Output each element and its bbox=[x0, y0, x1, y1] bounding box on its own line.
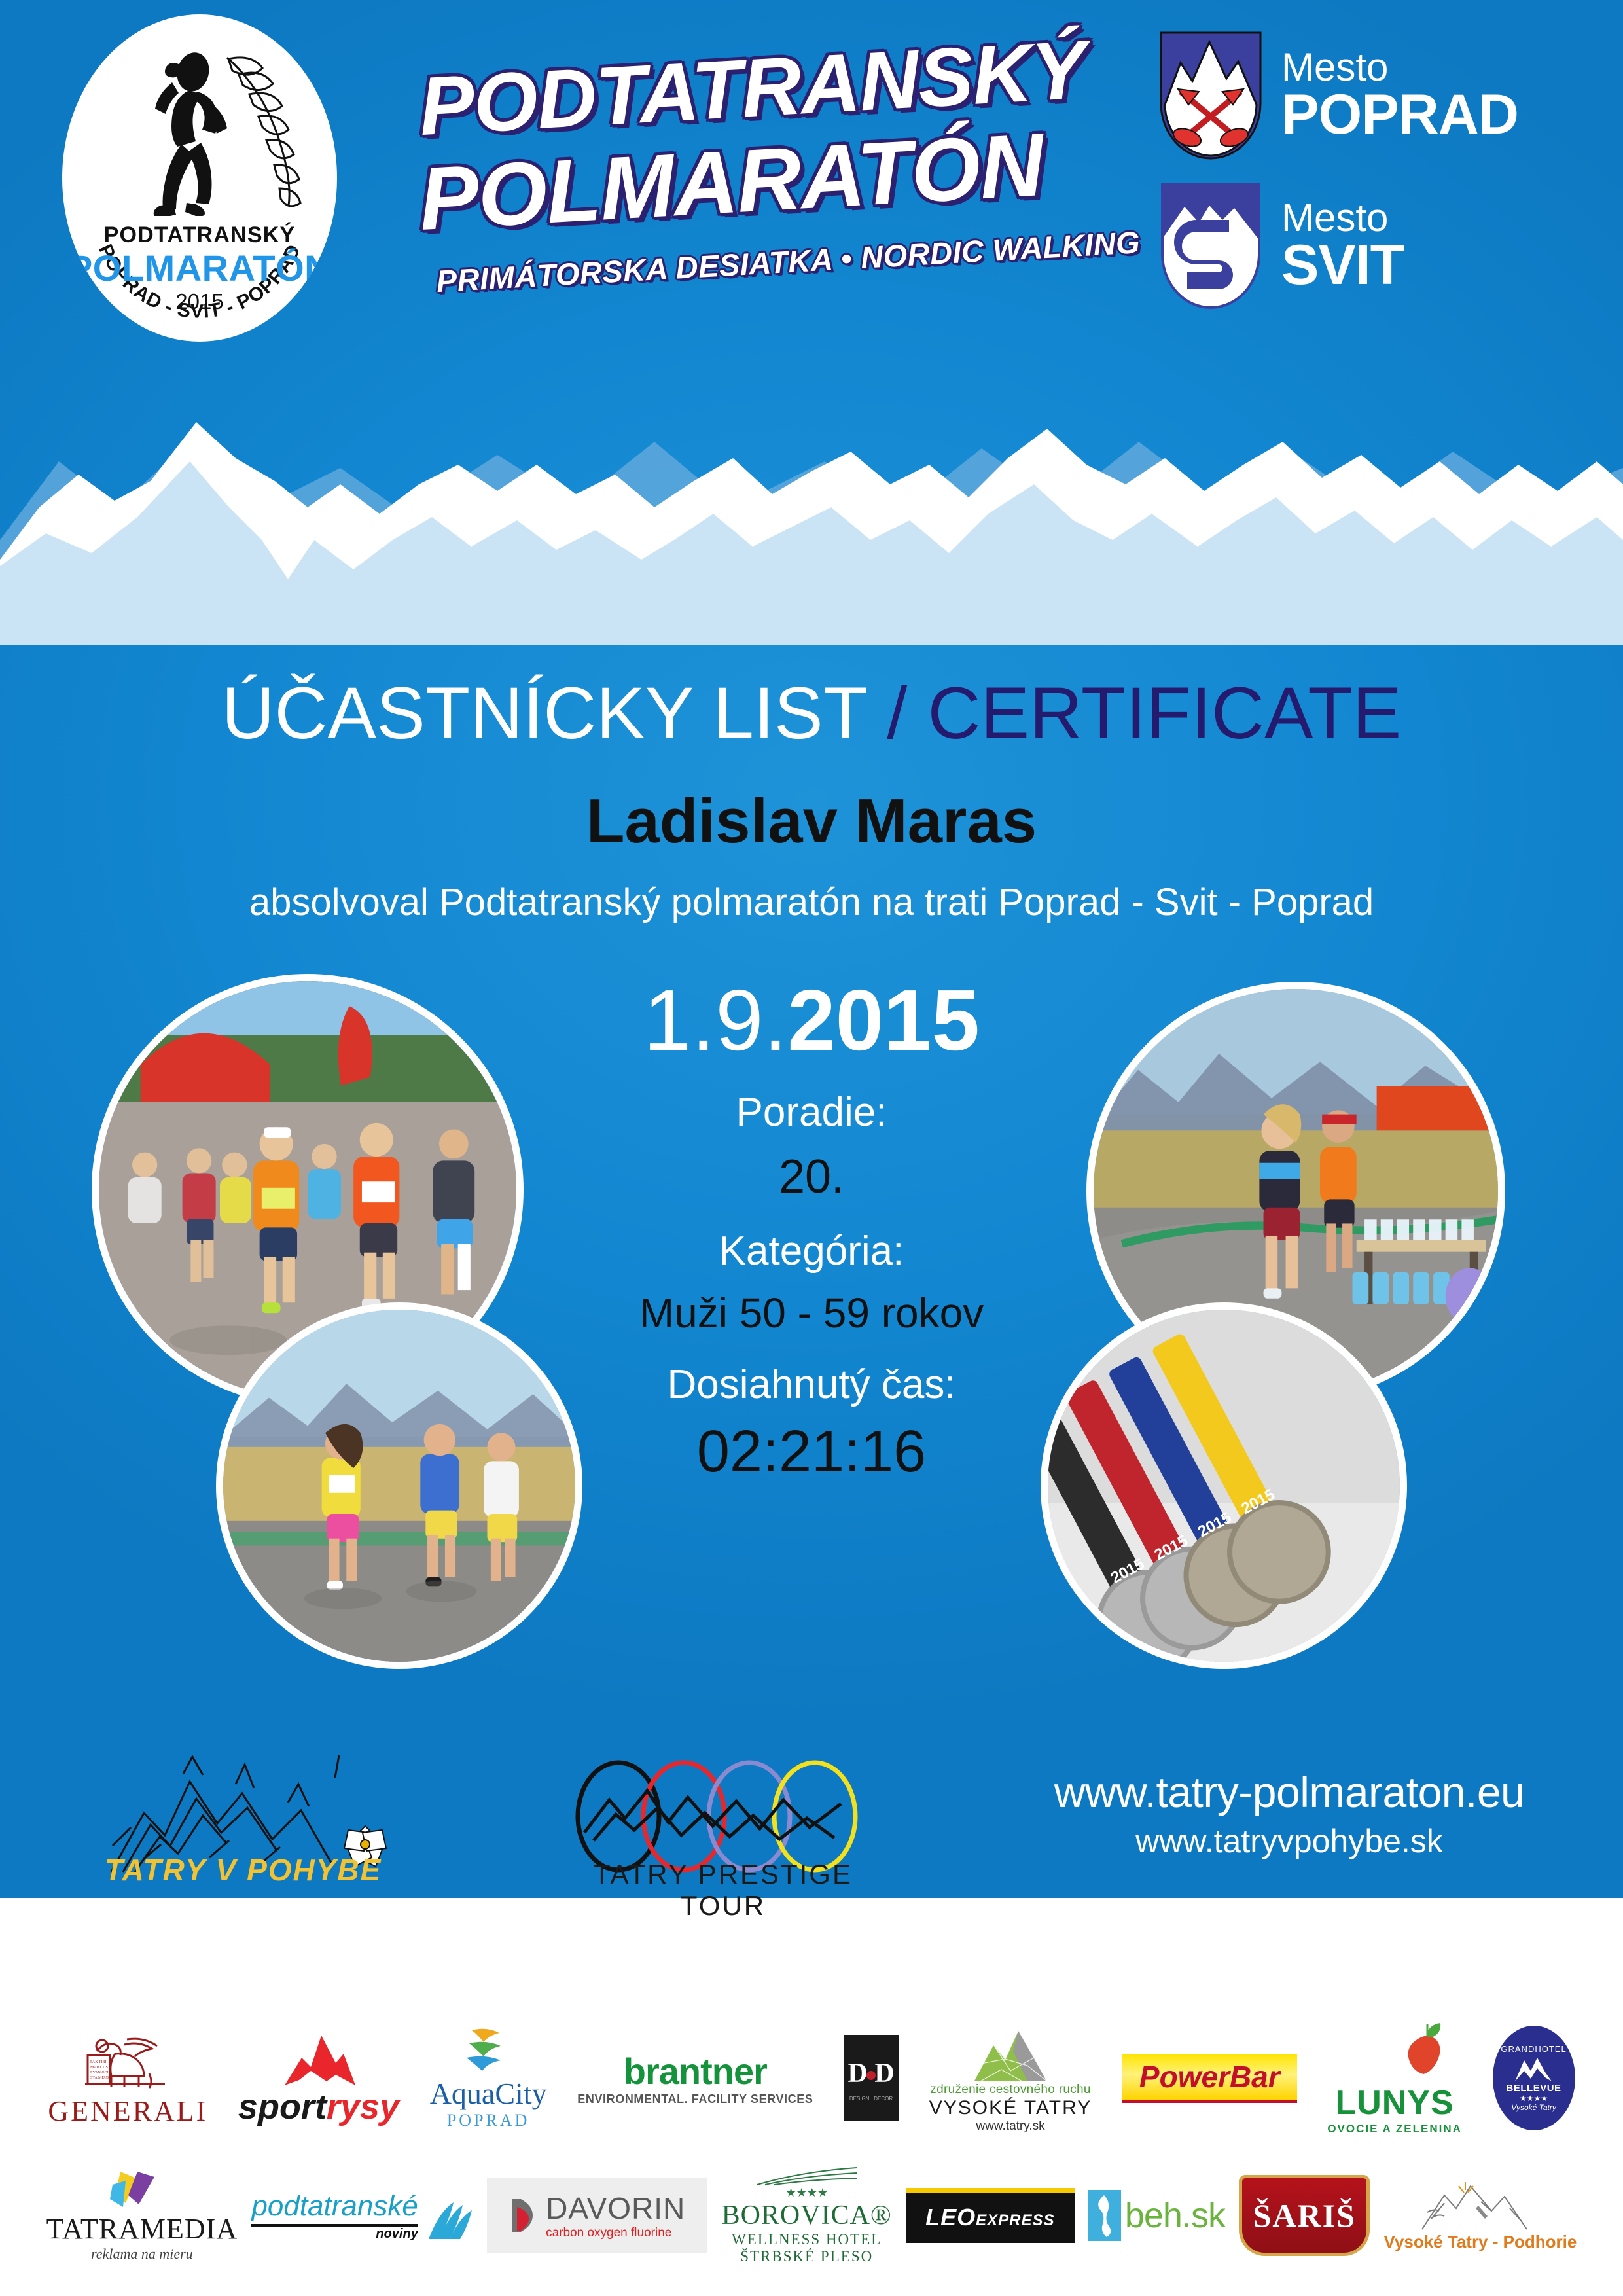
sponsor-davorin: DAVORIN carbon oxygen fluorine bbox=[487, 2178, 707, 2253]
participant-name: Ladislav Maras bbox=[0, 785, 1623, 857]
event-title-block: PODTATRANSKÝ POLMARATÓN PRIMÁTORSKA DESI… bbox=[419, 16, 1126, 343]
certificate-subtitle: absolvoval Podtatranský polmaratón na tr… bbox=[0, 880, 1623, 924]
city-name: SVIT bbox=[1281, 238, 1404, 293]
sportrysy-label-a: sport bbox=[238, 2087, 327, 2126]
lunys-label: LUNYS bbox=[1335, 2083, 1454, 2123]
certificate-title-sk: ÚČASTNÍCKY LIST bbox=[222, 672, 887, 754]
borovica-sublabel-1: WELLNESS HOTEL bbox=[732, 2231, 882, 2248]
grandhotel-top-label: GRANDHOTEL bbox=[1501, 2044, 1566, 2054]
sponsor-saris: ŠARIŠ bbox=[1239, 2175, 1370, 2256]
badge-year: 2015 bbox=[62, 289, 337, 314]
city-prefix: Mesto bbox=[1281, 48, 1518, 87]
leo-express-label: LEOEXPRESS bbox=[925, 2204, 1054, 2231]
svit-coat-of-arms-icon bbox=[1158, 182, 1263, 310]
vysoke-tatry-sublabel-1: združenie cestovného ruchu bbox=[930, 2083, 1090, 2097]
powerbar-badge: PowerBar bbox=[1122, 2054, 1297, 2103]
race-date: 1.9.2015 bbox=[550, 975, 1073, 1066]
sponsor-row-1: PAX TIBIMAR CUS EVAN GELISTA MEUS GENERA… bbox=[0, 2013, 1623, 2144]
sponsor-row-2: TATRAMEDIA reklama na mieru podtatranské… bbox=[0, 2160, 1623, 2271]
behsk-label: beh.sk bbox=[1125, 2195, 1225, 2236]
borovica-label: BOROVICA® bbox=[722, 2200, 892, 2231]
time-value: 02:21:16 bbox=[550, 1418, 1073, 1486]
city-prefix: Mesto bbox=[1281, 199, 1404, 238]
city-name: POPRAD bbox=[1281, 87, 1518, 142]
generali-lion-icon: PAX TIBIMAR CUS EVAN GELISTA MEUS bbox=[79, 2029, 177, 2094]
sportrysy-label-b: rysy bbox=[327, 2087, 399, 2126]
podtatranske-sublabel: noviny bbox=[376, 2227, 418, 2242]
url-secondary[interactable]: www.tatryvpohybe.sk bbox=[962, 1822, 1616, 1860]
sponsor-aquacity: AquaCity POPRAD bbox=[430, 2026, 547, 2130]
borovica-swoosh-icon bbox=[755, 2166, 859, 2186]
leo-label: LEO bbox=[925, 2204, 976, 2231]
sponsor-behsk: beh.sk bbox=[1088, 2190, 1225, 2241]
category-value: Muži 50 - 59 rokov bbox=[550, 1288, 1073, 1338]
rank-label: Poradie: bbox=[550, 1088, 1073, 1137]
poprad-coat-of-arms-icon bbox=[1158, 31, 1263, 160]
davorin-arrow-icon bbox=[509, 2197, 535, 2234]
tatramedia-label: TATRAMEDIA bbox=[46, 2212, 238, 2246]
davorin-sublabel: carbon oxygen fluorine bbox=[546, 2226, 671, 2240]
event-badge-logo: POPRAD - SVIT - POPRAD bbox=[62, 14, 337, 342]
sponsor-dd: D D DESIGN . DECOR bbox=[844, 2035, 899, 2121]
saris-label: ŠARIŠ bbox=[1253, 2197, 1356, 2234]
sponsor-brantner: brantner ENVIRONMENTAL. FACILITY SERVICE… bbox=[577, 2050, 813, 2106]
laurel-branch-icon bbox=[213, 48, 317, 212]
sportrysy-label: sportrysy bbox=[238, 2087, 399, 2127]
podhorie-mountain-icon bbox=[1418, 2179, 1543, 2232]
sponsor-podtatranske-noviny: podtatranské noviny bbox=[251, 2190, 473, 2242]
grandhotel-peaks-icon bbox=[1511, 2054, 1557, 2083]
grandhotel-bottom-label: BELLEVUE bbox=[1507, 2083, 1561, 2094]
photo-medals-art: 20152015 20152015 bbox=[1048, 1310, 1400, 1662]
city-poprad-logo: Mesto POPRAD bbox=[1158, 31, 1518, 160]
url-primary[interactable]: www.tatry-polmaraton.eu bbox=[962, 1767, 1616, 1817]
sponsor-sportrysy: sportrysy bbox=[238, 2029, 399, 2127]
certificate-title-en: CERTIFICATE bbox=[927, 672, 1401, 754]
aquacity-sublabel: POPRAD bbox=[447, 2111, 530, 2130]
photo-runners-road bbox=[216, 1302, 582, 1669]
tatra-mountain-band bbox=[0, 344, 1623, 645]
sponsor-generali: PAX TIBIMAR CUS EVAN GELISTA MEUS GENERA… bbox=[48, 2029, 207, 2128]
header: POPRAD - SVIT - POPRAD bbox=[0, 0, 1623, 357]
davorin-badge: DAVORIN carbon oxygen fluorine bbox=[487, 2178, 707, 2253]
sponsor-vysoke-tatry-podhorie: Vysoké Tatry - Podhorie bbox=[1384, 2179, 1577, 2252]
sponsor-lunys: LUNYS OVOCIE A ZELENINA bbox=[1327, 2020, 1462, 2136]
tatry-v-pohybe-label: TATRY V POHYBE bbox=[105, 1852, 445, 1888]
podtatranske-fan-icon bbox=[425, 2201, 473, 2242]
davorin-label: DAVORIN bbox=[546, 2191, 685, 2226]
city-svit-logo: Mesto SVIT bbox=[1158, 182, 1404, 310]
grandhotel-bellevue-badge: GRANDHOTEL BELLEVUE ★★★★ Vysoké Tatry bbox=[1493, 2026, 1575, 2130]
podtatranske-label: podtatranské bbox=[251, 2190, 418, 2223]
generali-label: GENERALI bbox=[48, 2094, 207, 2128]
leo-express-badge: LEOEXPRESS bbox=[906, 2188, 1074, 2243]
svg-text:EVAN GELI: EVAN GELI bbox=[90, 2071, 111, 2075]
behsk-figure-icon bbox=[1088, 2190, 1121, 2241]
lunys-sublabel: OVOCIE A ZELENINA bbox=[1327, 2123, 1462, 2136]
powerbar-label: PowerBar bbox=[1139, 2059, 1280, 2094]
vysoke-tatry-sublabel-2: www.tatry.sk bbox=[976, 2119, 1044, 2134]
brantner-sublabel: ENVIRONMENTAL. FACILITY SERVICES bbox=[577, 2092, 813, 2106]
aquacity-label: AquaCity bbox=[430, 2076, 547, 2111]
express-label: EXPRESS bbox=[976, 2212, 1054, 2229]
certificate-title: ÚČASTNÍCKY LIST / CERTIFICATE bbox=[0, 671, 1623, 755]
sponsor-powerbar: PowerBar bbox=[1122, 2054, 1297, 2103]
rank-value: 20. bbox=[550, 1149, 1073, 1205]
results-block: 1.9.2015 Poradie: 20. Kategória: Muži 50… bbox=[550, 975, 1073, 1486]
svg-text:PAX TIBI: PAX TIBI bbox=[90, 2060, 107, 2064]
vysoke-tatry-mountain-icon bbox=[965, 2022, 1056, 2083]
badge-line2: POLMARATÓN bbox=[62, 247, 337, 289]
grandhotel-sublabel: Vysoké Tatry bbox=[1511, 2103, 1556, 2112]
grandhotel-stars: ★★★★ bbox=[1520, 2094, 1548, 2103]
sponsor-grandhotel-bellevue: GRANDHOTEL BELLEVUE ★★★★ Vysoké Tatry bbox=[1493, 2026, 1575, 2130]
sportrysy-mountain-icon bbox=[273, 2029, 365, 2087]
race-date-year: 2015 bbox=[787, 972, 980, 1068]
category-label: Kategória: bbox=[550, 1227, 1073, 1276]
lunys-apple-icon bbox=[1342, 2020, 1447, 2083]
badge-line1: PODTATRANSKÝ bbox=[62, 223, 337, 248]
tatramedia-sublabel: reklama na mieru bbox=[91, 2246, 193, 2263]
bottom-mountain-wave bbox=[0, 1885, 1623, 2016]
sponsor-borovica: ★★★★ BOROVICA® WELLNESS HOTEL ŠTRBSKÉ PL… bbox=[722, 2166, 892, 2265]
website-urls: www.tatry-polmaraton.eu www.tatryvpohybe… bbox=[962, 1767, 1616, 1860]
certificate-title-sep: / bbox=[887, 672, 927, 754]
time-label: Dosiahnutý čas: bbox=[550, 1361, 1073, 1409]
dd-design-decor-icon: D D DESIGN . DECOR bbox=[844, 2035, 899, 2121]
photo-runners-road-art bbox=[223, 1310, 575, 1662]
borovica-stars: ★★★★ bbox=[785, 2186, 828, 2200]
svg-text:DESIGN . DECOR: DESIGN . DECOR bbox=[849, 2096, 893, 2102]
borovica-sublabel-2: ŠTRBSKÉ PLESO bbox=[740, 2248, 873, 2265]
sponsor-leo-express: LEOEXPRESS bbox=[906, 2188, 1074, 2243]
brantner-label: brantner bbox=[624, 2050, 767, 2092]
sponsor-tatramedia: TATRAMEDIA reklama na mieru bbox=[46, 2169, 238, 2263]
podhorie-label: Vysoké Tatry - Podhorie bbox=[1384, 2232, 1577, 2252]
photo-medals: 20152015 20152015 bbox=[1041, 1302, 1407, 1669]
saris-badge: ŠARIŠ bbox=[1239, 2175, 1370, 2256]
svg-text:MAR CUS: MAR CUS bbox=[90, 2066, 108, 2070]
sponsor-vysoke-tatry: združenie cestovného ruchu VYSOKÉ TATRY … bbox=[929, 2022, 1092, 2134]
vysoke-tatry-label: VYSOKÉ TATRY bbox=[929, 2097, 1092, 2119]
tatramedia-shapes-icon bbox=[106, 2169, 178, 2212]
aquacity-waves-icon bbox=[452, 2026, 524, 2076]
race-date-day: 1.9. bbox=[643, 972, 787, 1068]
svg-text:STA MEUS: STA MEUS bbox=[90, 2076, 109, 2080]
